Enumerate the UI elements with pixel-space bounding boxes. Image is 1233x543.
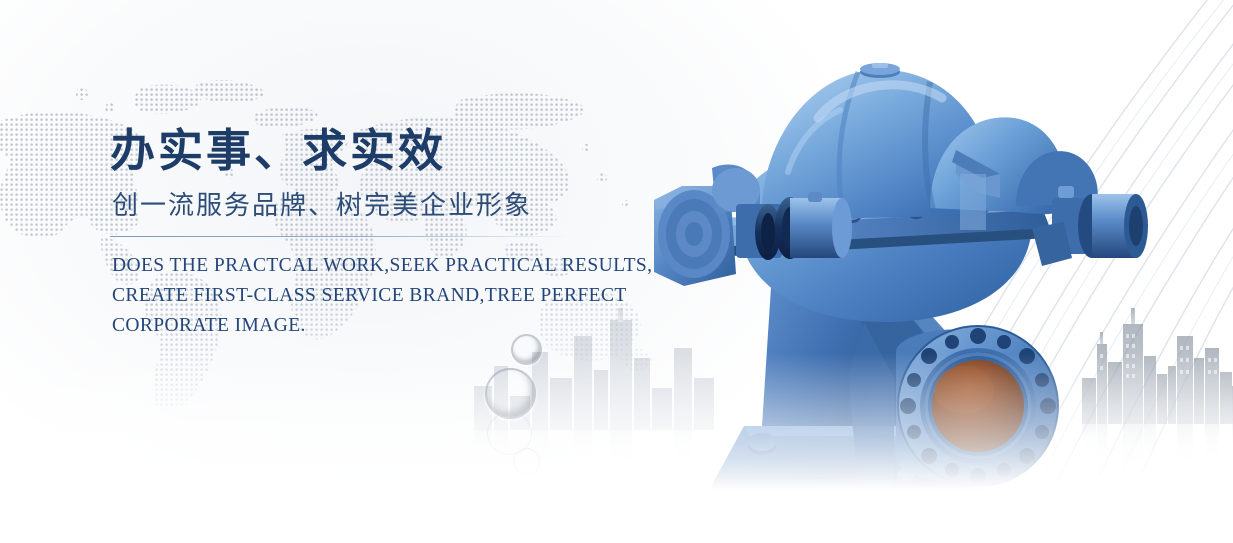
promotional-banner: 办实事、求实效 创一流服务品牌、树完美企业形象 DOES THE PRACTCA… bbox=[0, 0, 1233, 543]
english-line-1: DOES THE PRACTCAL WORK,SEEK PRACTICAL RE… bbox=[112, 251, 672, 281]
banner-english-tagline: DOES THE PRACTCAL WORK,SEEK PRACTICAL RE… bbox=[112, 251, 672, 340]
english-line-3: CORPORATE IMAGE. bbox=[112, 311, 672, 341]
bottom-fade bbox=[0, 353, 1233, 543]
banner-copy: 办实事、求实效 创一流服务品牌、树完美企业形象 DOES THE PRACTCA… bbox=[110, 128, 730, 340]
headline-divider bbox=[110, 236, 570, 237]
english-line-2: CREATE FIRST-CLASS SERVICE BRAND,TREE PE… bbox=[112, 281, 672, 311]
banner-subheadline: 创一流服务品牌、树完美企业形象 bbox=[112, 185, 730, 222]
banner-headline: 办实事、求实效 bbox=[110, 128, 730, 175]
